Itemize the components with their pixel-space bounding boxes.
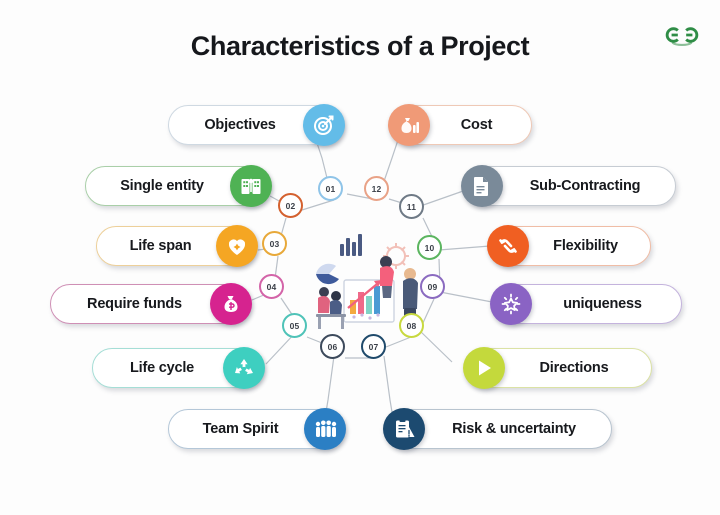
sparkle-star-icon bbox=[490, 283, 532, 325]
hub-node-03[interactable]: 03 bbox=[262, 231, 287, 256]
pill-label-risk-uncertainty: Risk & uncertainty bbox=[425, 421, 611, 437]
hub-node-number: 04 bbox=[267, 282, 277, 292]
hub-node-number: 07 bbox=[369, 342, 379, 352]
play-arrow-icon bbox=[463, 347, 505, 389]
pill-life-span[interactable]: Life span bbox=[96, 226, 256, 266]
pill-label-life-span: Life span bbox=[97, 238, 216, 254]
pill-label-team-spirit: Team Spirit bbox=[169, 421, 304, 437]
hub-node-09[interactable]: 09 bbox=[420, 274, 445, 299]
pill-label-cost: Cost bbox=[430, 117, 531, 133]
recycle-icon bbox=[223, 347, 265, 389]
pill-label-single-entity: Single entity bbox=[86, 178, 230, 194]
hub-node-number: 02 bbox=[286, 201, 296, 211]
hub-node-number: 06 bbox=[328, 342, 338, 352]
hub-node-10[interactable]: 10 bbox=[417, 235, 442, 260]
building-icon bbox=[230, 165, 272, 207]
people-group-icon bbox=[304, 408, 346, 450]
money-bag-icon bbox=[388, 104, 430, 146]
pill-label-require-funds: Require funds bbox=[51, 296, 210, 312]
pill-life-cycle[interactable]: Life cycle bbox=[92, 348, 263, 388]
hub-node-11[interactable]: 11 bbox=[399, 194, 424, 219]
pill-directions[interactable]: Directions bbox=[465, 348, 652, 388]
pill-label-sub-contracting: Sub-Contracting bbox=[503, 178, 675, 194]
hub-node-12[interactable]: 12 bbox=[364, 176, 389, 201]
pill-objectives[interactable]: Objectives bbox=[168, 105, 343, 145]
hub-node-number: 05 bbox=[290, 321, 300, 331]
hub-node-01[interactable]: 01 bbox=[318, 176, 343, 201]
hub-node-number: 03 bbox=[270, 239, 280, 249]
target-icon bbox=[303, 104, 345, 146]
document-icon bbox=[461, 165, 503, 207]
pill-risk-uncertainty[interactable]: Risk & uncertainty bbox=[385, 409, 612, 449]
pill-label-objectives: Objectives bbox=[169, 117, 303, 133]
pill-uniqueness[interactable]: uniqueness bbox=[492, 284, 682, 324]
pill-label-uniqueness: uniqueness bbox=[532, 296, 681, 312]
pill-sub-contracting[interactable]: Sub-Contracting bbox=[463, 166, 676, 206]
clipboard-warning-icon bbox=[383, 408, 425, 450]
pill-label-directions: Directions bbox=[505, 360, 651, 376]
pill-team-spirit[interactable]: Team Spirit bbox=[168, 409, 344, 449]
infographic-canvas: Characteristics of a Project bbox=[0, 0, 720, 515]
hub-node-07[interactable]: 07 bbox=[361, 334, 386, 359]
hub-node-number: 10 bbox=[425, 243, 435, 253]
hub-node-number: 12 bbox=[372, 184, 382, 194]
hub-node-04[interactable]: 04 bbox=[259, 274, 284, 299]
pill-label-flexibility: Flexibility bbox=[529, 238, 650, 254]
flexibility-arrows-icon bbox=[487, 225, 529, 267]
hub-node-number: 11 bbox=[407, 202, 416, 212]
heart-icon bbox=[216, 225, 258, 267]
pill-cost[interactable]: Cost bbox=[390, 105, 532, 145]
hub-node-number: 09 bbox=[428, 282, 438, 292]
hub-node-number: 08 bbox=[407, 321, 417, 331]
pill-flexibility[interactable]: Flexibility bbox=[489, 226, 651, 266]
pill-require-funds[interactable]: Require funds bbox=[50, 284, 250, 324]
hub-node-06[interactable]: 06 bbox=[320, 334, 345, 359]
hub-node-02[interactable]: 02 bbox=[278, 193, 303, 218]
pill-label-life-cycle: Life cycle bbox=[93, 360, 223, 376]
funds-bag-icon bbox=[210, 283, 252, 325]
hub-node-08[interactable]: 08 bbox=[399, 313, 424, 338]
pill-single-entity[interactable]: Single entity bbox=[85, 166, 270, 206]
hub-node-number: 01 bbox=[326, 184, 336, 194]
page-title: Characteristics of a Project bbox=[0, 31, 720, 62]
hub-node-05[interactable]: 05 bbox=[282, 313, 307, 338]
